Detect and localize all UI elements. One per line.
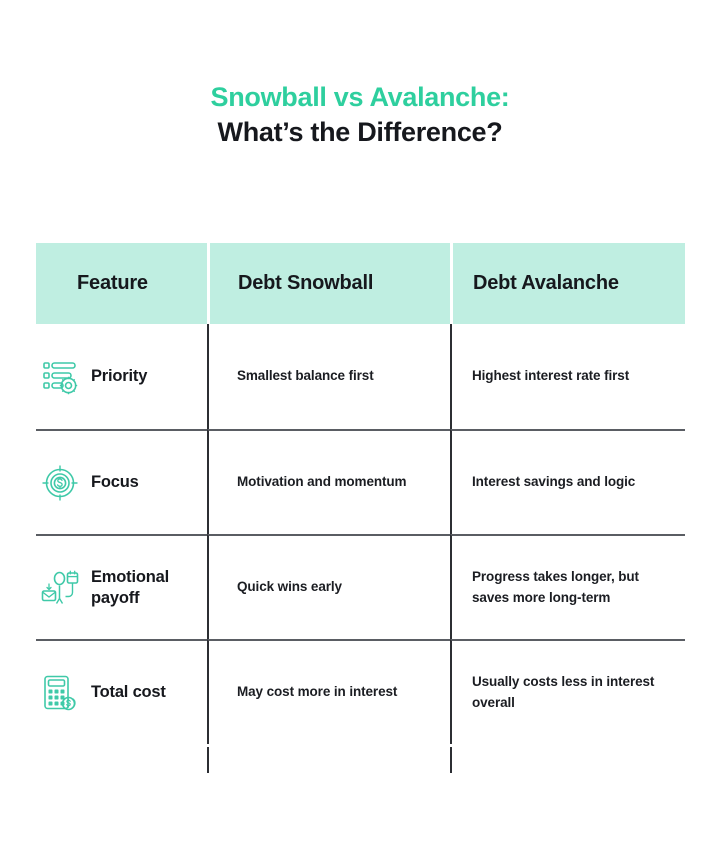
table-cell-snowball: Smallest balance first <box>207 324 450 429</box>
table-cell-feature: Focus <box>36 429 207 534</box>
cell-value-avalanche: Interest savings and logic <box>452 472 651 493</box>
title-line-primary: Snowball vs Avalanche: <box>0 80 720 115</box>
table-cell-feature: Emotional payoff <box>36 534 207 639</box>
table-row: Priority Smallest balance first Highest … <box>36 324 685 429</box>
page-title: Snowball vs Avalanche: What’s the Differ… <box>0 0 720 149</box>
person-calendar-envelope-icon <box>39 567 81 609</box>
table-header-row: Feature Debt Snowball Debt Avalanche <box>36 243 685 324</box>
cell-value-snowball: Motivation and momentum <box>209 472 422 493</box>
cell-value-snowball: May cost more in interest <box>209 682 413 703</box>
table-header-cell-avalanche: Debt Avalanche <box>450 243 685 324</box>
column-divider-stub-1 <box>207 747 209 773</box>
header-label-feature: Feature <box>36 272 148 295</box>
table-cell-avalanche: Usually costs less in interest overall <box>450 639 685 744</box>
title-line-secondary: What’s the Difference? <box>0 115 720 150</box>
comparison-table: Feature Debt Snowball Debt Avalanche <box>36 243 685 744</box>
table-row: Emotional payoff Quick wins early Progre… <box>36 534 685 639</box>
column-divider-stubs <box>36 747 685 773</box>
cell-value-snowball: Smallest balance first <box>209 366 390 387</box>
table-cell-snowball: Motivation and momentum <box>207 429 450 534</box>
feature-label: Focus <box>91 472 139 492</box>
table-cell-feature: Total cost <box>36 639 207 744</box>
table-header-cell-snowball: Debt Snowball <box>207 243 450 324</box>
table-cell-avalanche: Interest savings and logic <box>450 429 685 534</box>
header-label-avalanche: Debt Avalanche <box>453 272 619 295</box>
column-divider-stub-2 <box>450 747 452 773</box>
calculator-coins-icon <box>39 672 81 714</box>
table-cell-avalanche: Progress takes longer, but saves more lo… <box>450 534 685 639</box>
table-cell-snowball: Quick wins early <box>207 534 450 639</box>
target-dollar-icon <box>39 462 81 504</box>
table-cell-avalanche: Highest interest rate first <box>450 324 685 429</box>
cell-value-avalanche: Progress takes longer, but saves more lo… <box>452 567 685 609</box>
feature-label: Total cost <box>91 682 166 702</box>
table-header-cell-feature: Feature <box>36 243 207 324</box>
header-label-snowball: Debt Snowball <box>210 272 373 295</box>
infographic-page: Snowball vs Avalanche: What’s the Differ… <box>0 0 720 863</box>
feature-label: Emotional payoff <box>91 567 207 607</box>
cell-value-snowball: Quick wins early <box>209 577 358 598</box>
priority-checklist-gear-icon <box>39 356 81 398</box>
feature-label: Priority <box>91 366 147 386</box>
cell-value-avalanche: Usually costs less in interest overall <box>452 672 685 714</box>
table-cell-snowball: May cost more in interest <box>207 639 450 744</box>
cell-value-avalanche: Highest interest rate first <box>452 366 645 387</box>
table-row: Focus Motivation and momentum Interest s… <box>36 429 685 534</box>
table-row: Total cost May cost more in interest Usu… <box>36 639 685 744</box>
table-cell-feature: Priority <box>36 324 207 429</box>
